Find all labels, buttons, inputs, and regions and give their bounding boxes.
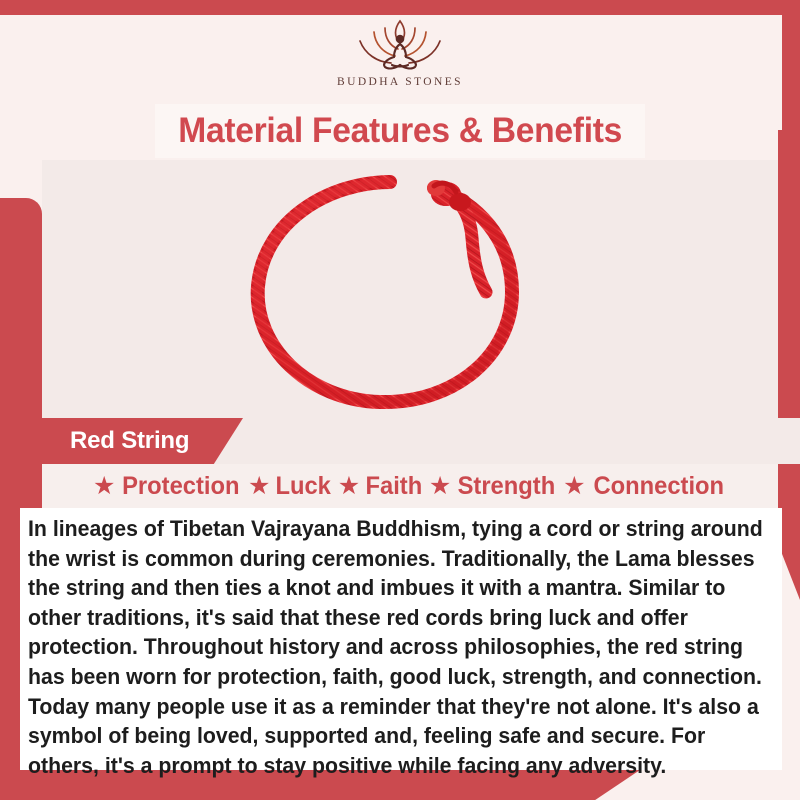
- benefit-label: Strength: [458, 472, 556, 501]
- star-icon: ★: [248, 474, 270, 499]
- description-box: In lineages of Tibetan Vajrayana Buddhis…: [20, 508, 782, 770]
- product-image-band: [42, 160, 778, 418]
- benefit-label: Faith: [366, 472, 423, 501]
- benefit-label: Luck: [276, 472, 331, 501]
- star-icon: ★: [93, 474, 115, 499]
- star-icon: ★: [563, 474, 585, 499]
- frame-top-stripe: [0, 0, 800, 15]
- benefit-item: ★ Strength: [429, 472, 558, 501]
- page-title: Material Features & Benefits: [178, 111, 622, 151]
- benefit-item: ★ Luck: [248, 472, 333, 501]
- title-banner: Material Features & Benefits: [155, 104, 645, 158]
- star-icon: ★: [338, 474, 360, 499]
- benefit-item: ★ Protection: [93, 472, 243, 501]
- description-text: In lineages of Tibetan Vajrayana Buddhis…: [28, 514, 779, 780]
- benefit-label: Protection: [122, 472, 239, 501]
- product-image: [42, 160, 778, 418]
- star-icon: ★: [429, 474, 451, 499]
- poster-root: BUDDHA STONES Material Features & Benefi…: [0, 0, 800, 800]
- product-label-text: Red String: [70, 427, 189, 455]
- benefit-item: ★ Faith: [338, 472, 424, 501]
- benefit-item: ★ Connection: [563, 472, 727, 501]
- brand-name: BUDDHA STONES: [337, 76, 463, 88]
- product-label-tag: Red String: [0, 418, 243, 464]
- brand-logo: BUDDHA STONES: [0, 15, 800, 105]
- benefits-row: ★ Protection ★ Luck ★ Faith ★ Strength ★…: [42, 464, 778, 508]
- benefit-label: Connection: [593, 472, 724, 501]
- lotus-meditation-icon: [348, 15, 452, 77]
- red-string-bracelet-icon: [220, 168, 568, 418]
